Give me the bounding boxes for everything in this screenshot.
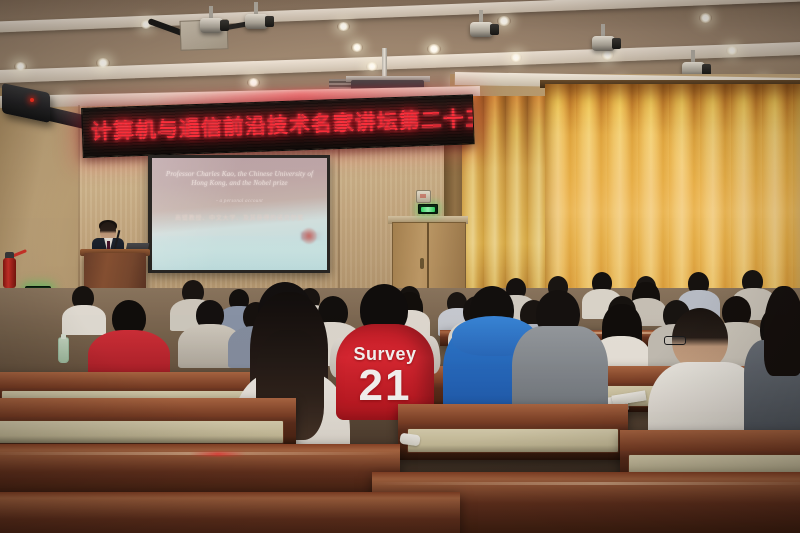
recessed-downlight-icon xyxy=(726,46,738,55)
recessed-downlight-icon xyxy=(427,44,441,54)
recessed-downlight-icon xyxy=(510,53,522,62)
fire-extinguisher-icon xyxy=(3,258,16,288)
recessed-downlight-icon xyxy=(14,62,27,71)
recessed-downlight-icon xyxy=(96,58,110,68)
recessed-downlight-icon xyxy=(337,22,350,31)
red-laser-reflection xyxy=(190,452,246,456)
screen-sheen xyxy=(152,158,327,270)
glasses-icon xyxy=(664,336,686,345)
desk-sheen xyxy=(372,482,800,485)
jersey-number: 21 xyxy=(336,364,434,408)
wall-seam xyxy=(338,140,340,300)
recessed-downlight-icon xyxy=(699,13,712,23)
recessed-downlight-icon xyxy=(601,50,614,60)
audience-body xyxy=(62,305,106,335)
lecture-hall-photo: 计算机与通信前沿技术名家讲坛第二十三讲 Professor Charles Ka… xyxy=(0,0,800,533)
recessed-downlight-icon xyxy=(247,78,260,87)
speaker-status-led xyxy=(30,98,34,102)
ceiling-beam xyxy=(0,0,800,34)
bench-desk-row xyxy=(0,398,296,450)
wall-seam xyxy=(78,105,80,300)
projection-screen: Professor Charles Kao, the Chinese Unive… xyxy=(152,158,327,270)
curtain-panel xyxy=(462,96,554,306)
recessed-downlight-icon xyxy=(351,43,363,52)
bench-desk-front xyxy=(0,492,460,533)
recessed-downlight-icon xyxy=(497,16,511,26)
water-bottle xyxy=(58,337,69,363)
recessed-downlight-icon xyxy=(366,62,378,71)
exit-sign-icon xyxy=(418,204,438,214)
door-handle[interactable] xyxy=(420,258,424,269)
audience-long-hair xyxy=(764,286,800,376)
led-banner-text: 计算机与通信前沿技术名家讲坛第二十三讲 xyxy=(91,109,468,143)
wall-device xyxy=(416,190,431,203)
bench-desk-row xyxy=(398,404,628,460)
